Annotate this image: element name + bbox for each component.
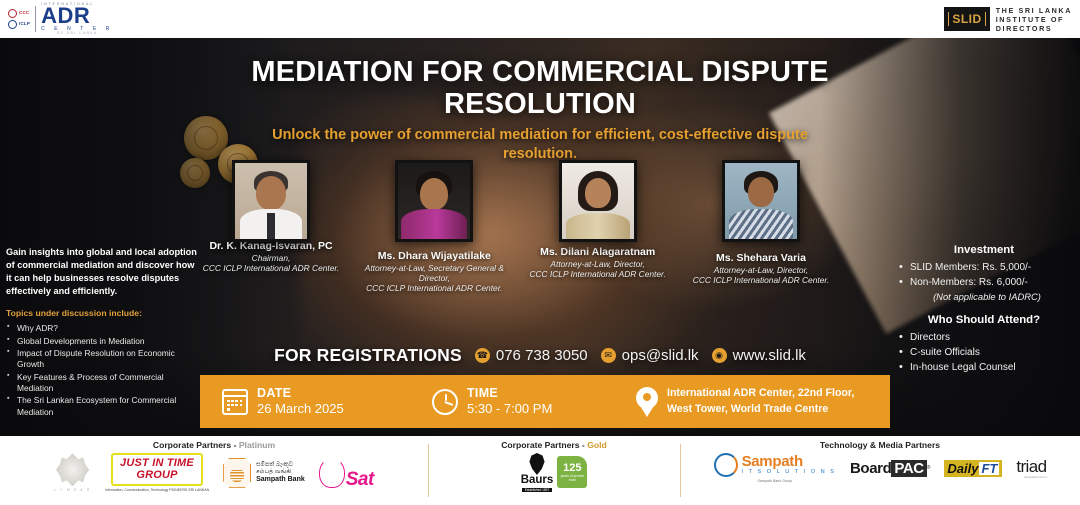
slid-badge: SLID bbox=[944, 7, 989, 31]
topics-heading: Topics under discussion include: bbox=[6, 308, 198, 318]
speaker-photo bbox=[395, 160, 473, 242]
ccc-dot-icon bbox=[8, 9, 17, 18]
email-address: ops@slid.lk bbox=[622, 347, 699, 364]
sampath-it-line-3: Sampath Bank Group bbox=[758, 479, 793, 483]
sat-logo: Sat bbox=[319, 458, 374, 488]
ccc-label: CCC bbox=[19, 11, 29, 16]
jit-box: JUST IN TIME GROUP bbox=[111, 453, 203, 486]
hero-text: MEDIATION FOR COMMERCIAL DISPUTE RESOLUT… bbox=[0, 56, 1080, 164]
sampath-it-swirl-icon bbox=[714, 453, 738, 477]
iclp-dot-icon bbox=[8, 20, 17, 29]
gold-logos: Baurs Established 1897 125 years of prov… bbox=[521, 453, 588, 492]
event-details-bar: DATE 26 March 2025 TIME 5:30 - 7:00 PM I… bbox=[200, 375, 890, 428]
calendar-icon bbox=[222, 389, 248, 415]
technology-heading: Technology & Media Partners bbox=[820, 440, 940, 450]
baurs-label: Baurs bbox=[521, 475, 554, 487]
triad-label: triad bbox=[1016, 457, 1046, 476]
partners-footer: Corporate Partners - Platinum L Y M E A … bbox=[0, 436, 1080, 505]
triad-logo: triad integrated comm bbox=[1016, 458, 1046, 479]
time-value: 5:30 - 7:00 PM bbox=[467, 401, 552, 417]
iclp-mark: ICLP bbox=[8, 20, 30, 29]
website-contact[interactable]: ◉ www.slid.lk bbox=[712, 347, 806, 364]
gold-partners-section: Corporate Partners - Gold Baurs Establis… bbox=[428, 436, 680, 505]
gold-heading-main: Corporate Partners - bbox=[501, 440, 587, 450]
technology-partners-section: Technology & Media Partners Sampath I T … bbox=[680, 436, 1080, 505]
sampath-bank-logo: සම්පත් බැංකුව சம்பத் வங்கி Sampath Bank bbox=[223, 458, 305, 488]
baurs-badge-text: years of proven trust bbox=[557, 474, 587, 482]
speaker-card: Ms. Shehara Varia Attorney-at-Law, Direc… bbox=[686, 160, 836, 293]
speaker-org: CCC ICLP International ADR Center. bbox=[359, 283, 509, 293]
speaker-role: Attorney-at-Law, Director, bbox=[686, 265, 836, 275]
slid-logo: SLID THE SRI LANKA INSTITUTE OF DIRECTOR… bbox=[944, 6, 1072, 33]
investment-item: Non-Members: Rs. 6,000/- bbox=[896, 275, 1072, 290]
email-icon: ✉ bbox=[601, 348, 616, 363]
speakers-list: Dr. K. Kanag-Isvaran, PC Chairman, CCC I… bbox=[196, 160, 836, 293]
topic-item: Why ADR? bbox=[6, 323, 198, 334]
sampath-english: Sampath Bank bbox=[256, 476, 305, 485]
speaker-photo bbox=[722, 160, 800, 242]
sampath-it-line-2: I T S O L U T I O N S bbox=[742, 470, 836, 476]
date-block: DATE 26 March 2025 bbox=[222, 386, 418, 418]
slid-wordmark: THE SRI LANKA INSTITUTE OF DIRECTORS bbox=[996, 6, 1072, 33]
lymear-mark-icon bbox=[56, 453, 89, 486]
adr-main-word: ADR bbox=[41, 6, 113, 27]
registration-row: FOR REGISTRATIONS ☎ 076 738 3050 ✉ ops@s… bbox=[0, 345, 1080, 366]
sat-swirl-icon bbox=[319, 458, 345, 488]
speaker-role: Chairman, bbox=[196, 253, 346, 263]
registration-label: FOR REGISTRATIONS bbox=[274, 345, 462, 366]
adr-center-logo: CCC ICLP INTERNATIONAL ADR C E N T E R O… bbox=[8, 3, 113, 36]
venue-line-1: International ADR Center, 22nd Floor, bbox=[667, 386, 854, 401]
gold-heading: Corporate Partners - Gold bbox=[501, 440, 607, 450]
speaker-card: Ms. Dilani Alagaratnam Attorney-at-Law, … bbox=[523, 160, 673, 293]
jit-tagline: Information, Communication, Technology P… bbox=[105, 488, 209, 493]
topics-list: Why ADR? Global Developments in Mediatio… bbox=[6, 323, 198, 418]
speaker-role: Attorney-at-Law, Director, bbox=[523, 259, 673, 269]
slid-line-3: DIRECTORS bbox=[996, 24, 1072, 33]
left-info-column: Gain insights into global and local adop… bbox=[6, 246, 198, 419]
sampath-wordmark: සම්පත් බැංකුව சம்பத் வங்கி Sampath Bank bbox=[256, 461, 305, 485]
attendee-item: Directors bbox=[896, 330, 1072, 345]
platinum-heading: Corporate Partners - Platinum bbox=[153, 440, 275, 450]
flyer-header: CCC ICLP INTERNATIONAL ADR C E N T E R O… bbox=[0, 0, 1080, 38]
sampath-it-line-1: Sampath bbox=[742, 454, 836, 470]
boardpac-part-1: Board bbox=[850, 460, 891, 477]
topic-item: Key Features & Process of Commercial Med… bbox=[6, 372, 198, 395]
date-label: DATE bbox=[257, 386, 344, 402]
gold-heading-tier: Gold bbox=[587, 440, 607, 450]
investment-list: SLID Members: Rs. 5,000/- Non-Members: R… bbox=[896, 260, 1072, 290]
sampath-sinhala: සම්පත් බැංකුව bbox=[256, 461, 305, 469]
boardpac-part-2: PAC bbox=[891, 460, 926, 477]
speaker-name: Ms. Dhara Wijayatilake bbox=[359, 250, 509, 263]
location-pin-icon bbox=[636, 387, 658, 417]
boardpac-logo: Board PAC ® bbox=[850, 460, 930, 477]
speaker-name: Ms. Dilani Alagaratnam bbox=[523, 246, 673, 259]
website-url: www.slid.lk bbox=[733, 347, 806, 364]
attend-heading: Who Should Attend? bbox=[896, 314, 1072, 326]
daily-ft-part-2: FT bbox=[979, 462, 999, 475]
topic-item: The Sri Lankan Ecosystem for Commercial … bbox=[6, 395, 198, 418]
baurs-anniversary-badge: 125 years of proven trust bbox=[557, 456, 587, 488]
baurs-logo: Baurs Established 1897 125 years of prov… bbox=[521, 453, 588, 492]
speaker-name: Ms. Shehara Varia bbox=[686, 252, 836, 265]
intro-paragraph: Gain insights into global and local adop… bbox=[6, 246, 198, 298]
baurs-established: Established 1897 bbox=[522, 488, 552, 492]
venue-block: International ADR Center, 22nd Floor, We… bbox=[636, 386, 854, 417]
platinum-partners-section: Corporate Partners - Platinum L Y M E A … bbox=[0, 436, 428, 505]
baurs-wordmark: Baurs Established 1897 bbox=[521, 453, 554, 492]
adr-partner-marks: CCC ICLP bbox=[8, 9, 30, 29]
speaker-photo bbox=[559, 160, 637, 242]
speaker-card: Ms. Dhara Wijayatilake Attorney-at-Law, … bbox=[359, 160, 509, 293]
slid-badge-label: SLID bbox=[948, 12, 985, 26]
sampath-it-solutions-logo: Sampath I T S O L U T I O N S Sampath Ba… bbox=[714, 453, 836, 483]
investment-note: (Not applicable to IADRC) bbox=[896, 291, 1072, 302]
sat-label: Sat bbox=[346, 471, 374, 488]
platinum-heading-tier: Platinum bbox=[239, 440, 275, 450]
jit-line-2: GROUP bbox=[136, 470, 177, 482]
investment-heading: Investment bbox=[896, 244, 1072, 256]
date-value: 26 March 2025 bbox=[257, 401, 344, 417]
daily-ft-part-1: Daily bbox=[947, 462, 978, 475]
venue-line-2: West Tower, World Trade Centre bbox=[667, 402, 854, 417]
technology-logos: Sampath I T S O L U T I O N S Sampath Ba… bbox=[714, 453, 1047, 483]
investment-item: SLID Members: Rs. 5,000/- bbox=[896, 260, 1072, 275]
jit-line-1: JUST IN TIME bbox=[120, 458, 194, 470]
baurs-badge-number: 125 bbox=[563, 463, 581, 474]
email-contact[interactable]: ✉ ops@slid.lk bbox=[601, 347, 699, 364]
time-block: TIME 5:30 - 7:00 PM bbox=[432, 386, 622, 418]
platinum-logos: L Y M E A R JUST IN TIME GROUP Informati… bbox=[54, 453, 374, 493]
speaker-org: CCC ICLP International ADR Center. bbox=[686, 275, 836, 285]
baurs-mask-icon bbox=[527, 453, 547, 475]
slid-line-2: INSTITUTE OF bbox=[996, 15, 1072, 24]
speaker-card: Dr. K. Kanag-Isvaran, PC Chairman, CCC I… bbox=[196, 160, 346, 293]
phone-contact[interactable]: ☎ 076 738 3050 bbox=[475, 347, 588, 364]
triad-wordmark: triad bbox=[1016, 458, 1046, 475]
ccc-mark: CCC bbox=[8, 9, 30, 18]
time-label: TIME bbox=[467, 386, 552, 402]
just-in-time-logo: JUST IN TIME GROUP Information, Communic… bbox=[105, 453, 209, 493]
slid-line-1: THE SRI LANKA bbox=[996, 6, 1072, 15]
daily-ft-logo: Daily FT bbox=[944, 460, 1002, 477]
lymear-logo: L Y M E A R bbox=[54, 453, 91, 492]
speaker-org: CCC ICLP International ADR Center. bbox=[523, 269, 673, 279]
speaker-org: CCC ICLP International ADR Center. bbox=[196, 263, 346, 273]
lymear-label: L Y M E A R bbox=[54, 488, 91, 492]
adr-wordmark: INTERNATIONAL ADR C E N T E R OF SRI LAN… bbox=[41, 3, 113, 36]
platinum-heading-main: Corporate Partners - bbox=[153, 440, 239, 450]
sampath-mark-icon bbox=[223, 458, 251, 488]
phone-number: 076 738 3050 bbox=[496, 347, 588, 364]
phone-icon: ☎ bbox=[475, 348, 490, 363]
page-title: MEDIATION FOR COMMERCIAL DISPUTE RESOLUT… bbox=[0, 56, 1080, 121]
event-flyer: CCC ICLP INTERNATIONAL ADR C E N T E R O… bbox=[0, 0, 1080, 505]
iclp-label: ICLP bbox=[19, 22, 30, 27]
page-subtitle: Unlock the power of commercial mediation… bbox=[0, 126, 1080, 164]
clock-icon bbox=[432, 389, 458, 415]
speaker-photo bbox=[232, 160, 310, 242]
sampath-tamil: சம்பத் வங்கி bbox=[256, 468, 305, 476]
boardpac-registered-icon: ® bbox=[927, 465, 931, 471]
logo-divider bbox=[35, 6, 36, 32]
speaker-role: Attorney-at-Law, Secretary General & Dir… bbox=[359, 263, 509, 284]
globe-icon: ◉ bbox=[712, 348, 727, 363]
adr-sub-line: OF SRI LANKA bbox=[41, 32, 113, 35]
